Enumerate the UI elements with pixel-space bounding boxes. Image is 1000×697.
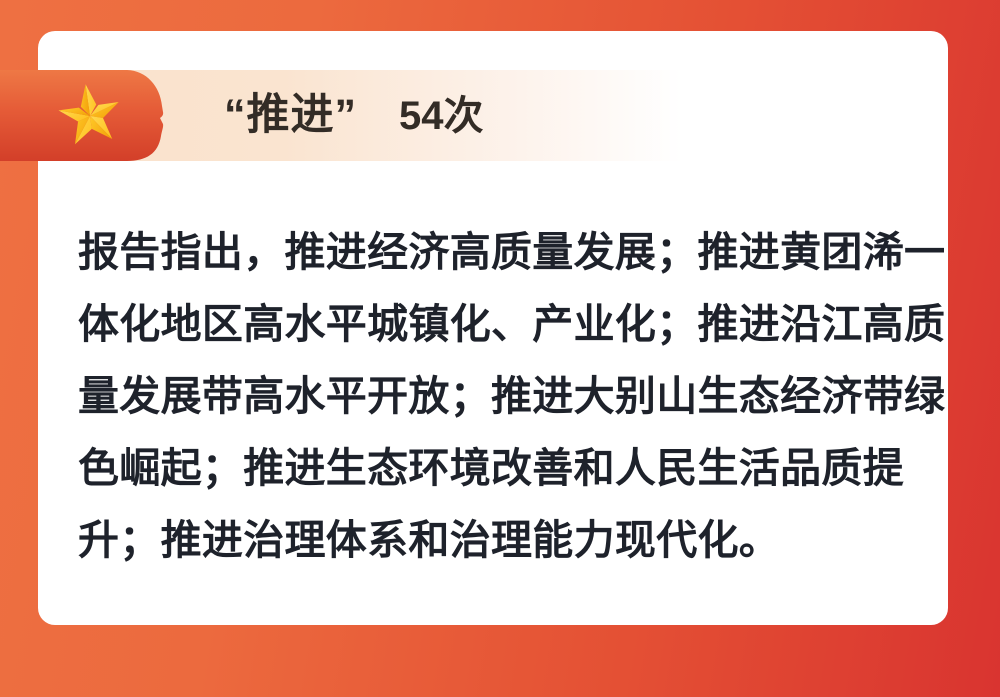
body-line: 升；推进治理体系和治理能力现代化。 <box>78 504 940 576</box>
body-line: 量发展带高水平开放；推进大别山生态经济带绿 <box>78 360 940 432</box>
body-paragraph: 报告指出，推进经济高质量发展；推进黄团浠一 体化地区高水平城镇化、产业化；推进沿… <box>78 216 940 576</box>
star-ribbon <box>0 70 165 161</box>
band-title: “推进” 54次 <box>224 70 484 161</box>
count-label: 54次 <box>399 96 484 136</box>
poster-screen: “推进” 54次 报告指出，推进经济高质量发展；推进黄团浠一 体化地区高水平城镇… <box>0 0 1000 697</box>
body-line: 报告指出，推进经济高质量发展；推进黄团浠一 <box>78 216 940 288</box>
body-line: 体化地区高水平城镇化、产业化；推进沿江高质 <box>78 288 940 360</box>
ribbon-shape <box>0 70 165 161</box>
keyword-label: “推进” <box>224 94 357 137</box>
body-line: 色崛起；推进生态环境改善和人民生活品质提 <box>78 432 940 504</box>
